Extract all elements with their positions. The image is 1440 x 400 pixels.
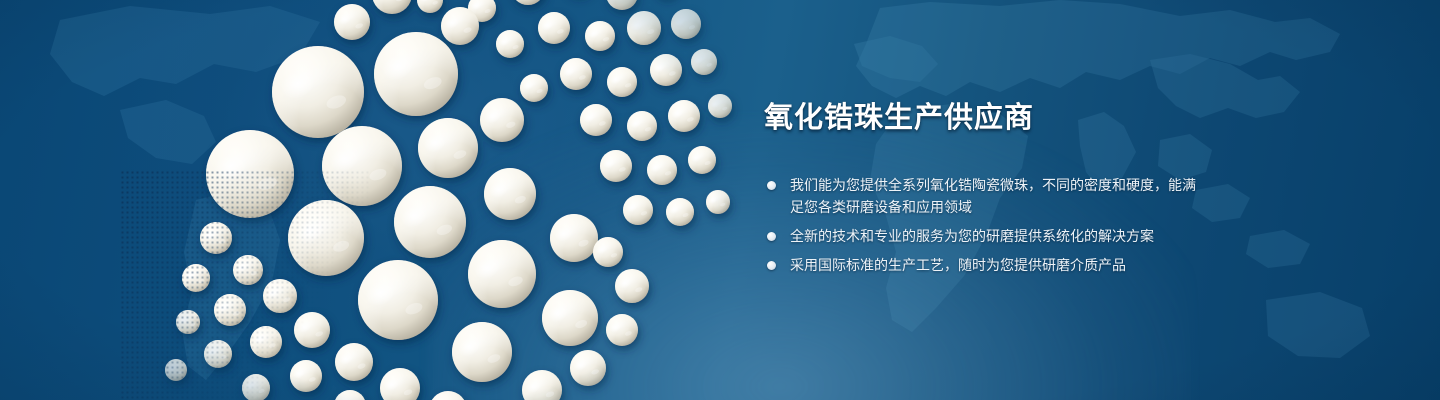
list-item-text: 采用国际标准的生产工艺，随时为您提供研磨介质产品 <box>790 257 1126 273</box>
bullet-dot-icon <box>767 261 776 270</box>
hero-banner: 氧化锆珠生产供应商 我们能为您提供全系列氧化锆陶瓷微珠，不同的密度和硬度，能满足… <box>0 0 1440 400</box>
banner-feature-list: 我们能为您提供全系列氧化锆陶瓷微珠，不同的密度和硬度，能满足您各类研磨设备和应用… <box>764 174 1324 276</box>
list-item: 我们能为您提供全系列氧化锆陶瓷微珠，不同的密度和硬度，能满足您各类研磨设备和应用… <box>764 174 1196 218</box>
list-item: 采用国际标准的生产工艺，随时为您提供研磨介质产品 <box>764 254 1196 276</box>
list-item: 全新的技术和专业的服务为您的研磨提供系统化的解决方案 <box>764 225 1196 247</box>
list-item-text: 我们能为您提供全系列氧化锆陶瓷微珠，不同的密度和硬度，能满足您各类研磨设备和应用… <box>790 177 1196 215</box>
bullet-dot-icon <box>767 232 776 241</box>
bullet-dot-icon <box>767 181 776 190</box>
banner-headline: 氧化锆珠生产供应商 <box>764 100 1324 136</box>
list-item-text: 全新的技术和专业的服务为您的研磨提供系统化的解决方案 <box>790 228 1154 244</box>
banner-copy: 氧化锆珠生产供应商 我们能为您提供全系列氧化锆陶瓷微珠，不同的密度和硬度，能满足… <box>764 100 1324 276</box>
